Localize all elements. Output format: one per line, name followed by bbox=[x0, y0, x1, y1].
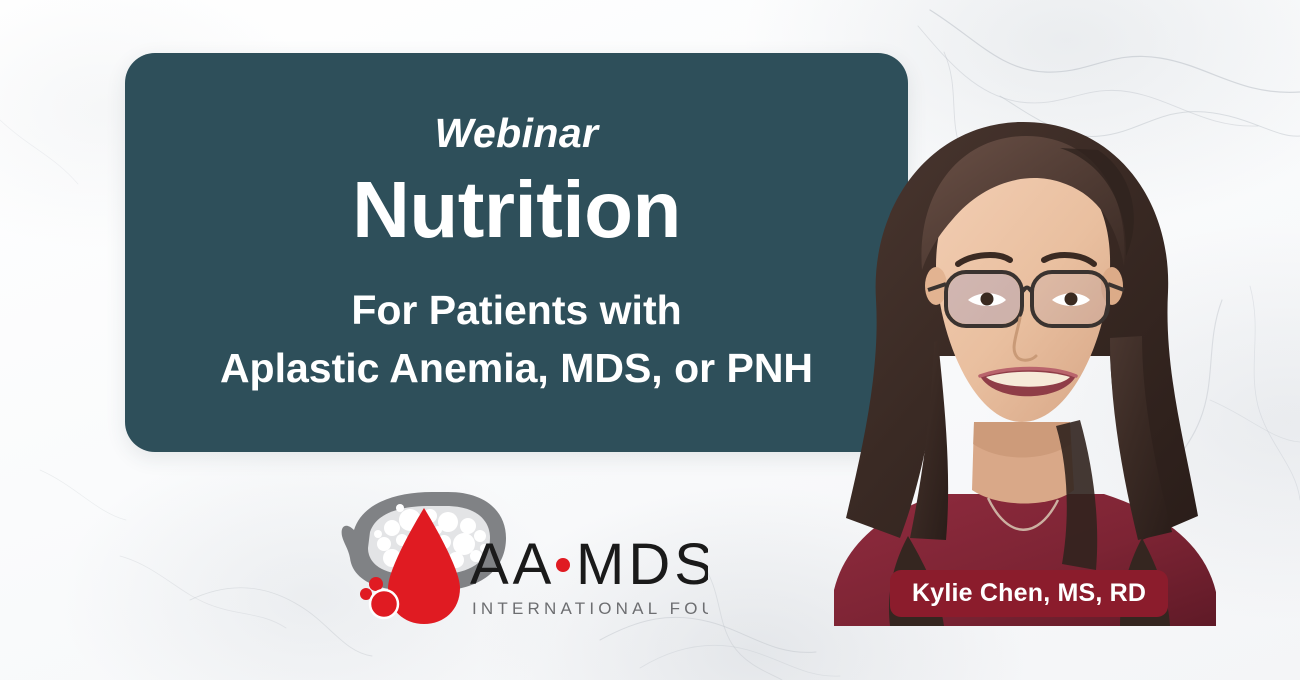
webinar-promo-graphic: Webinar Nutrition For Patients with Apla… bbox=[0, 0, 1300, 680]
subtitle-line-1: For Patients with bbox=[151, 281, 882, 339]
content-card: Webinar Nutrition For Patients with Apla… bbox=[125, 53, 908, 452]
aamds-logo: AA MDS INTERNATIONAL FOUNDATION bbox=[336, 486, 708, 626]
kicker-label: Webinar bbox=[151, 113, 882, 154]
subtitle-line-2: Aplastic Anemia, MDS, or PNH bbox=[151, 339, 882, 397]
logo-tagline: INTERNATIONAL FOUNDATION bbox=[472, 599, 708, 618]
speaker-portrait bbox=[812, 70, 1232, 626]
logo-wordmark-part2: MDS bbox=[576, 532, 708, 597]
card-text-block: Webinar Nutrition For Patients with Apla… bbox=[125, 113, 908, 398]
speaker-name-label: Kylie Chen, MS, RD bbox=[912, 579, 1146, 608]
page-title: Nutrition bbox=[151, 168, 882, 251]
logo-red-dot bbox=[556, 558, 570, 572]
logo-wordmark-part1: AA bbox=[470, 532, 555, 597]
speaker-name-badge: Kylie Chen, MS, RD bbox=[890, 570, 1168, 617]
